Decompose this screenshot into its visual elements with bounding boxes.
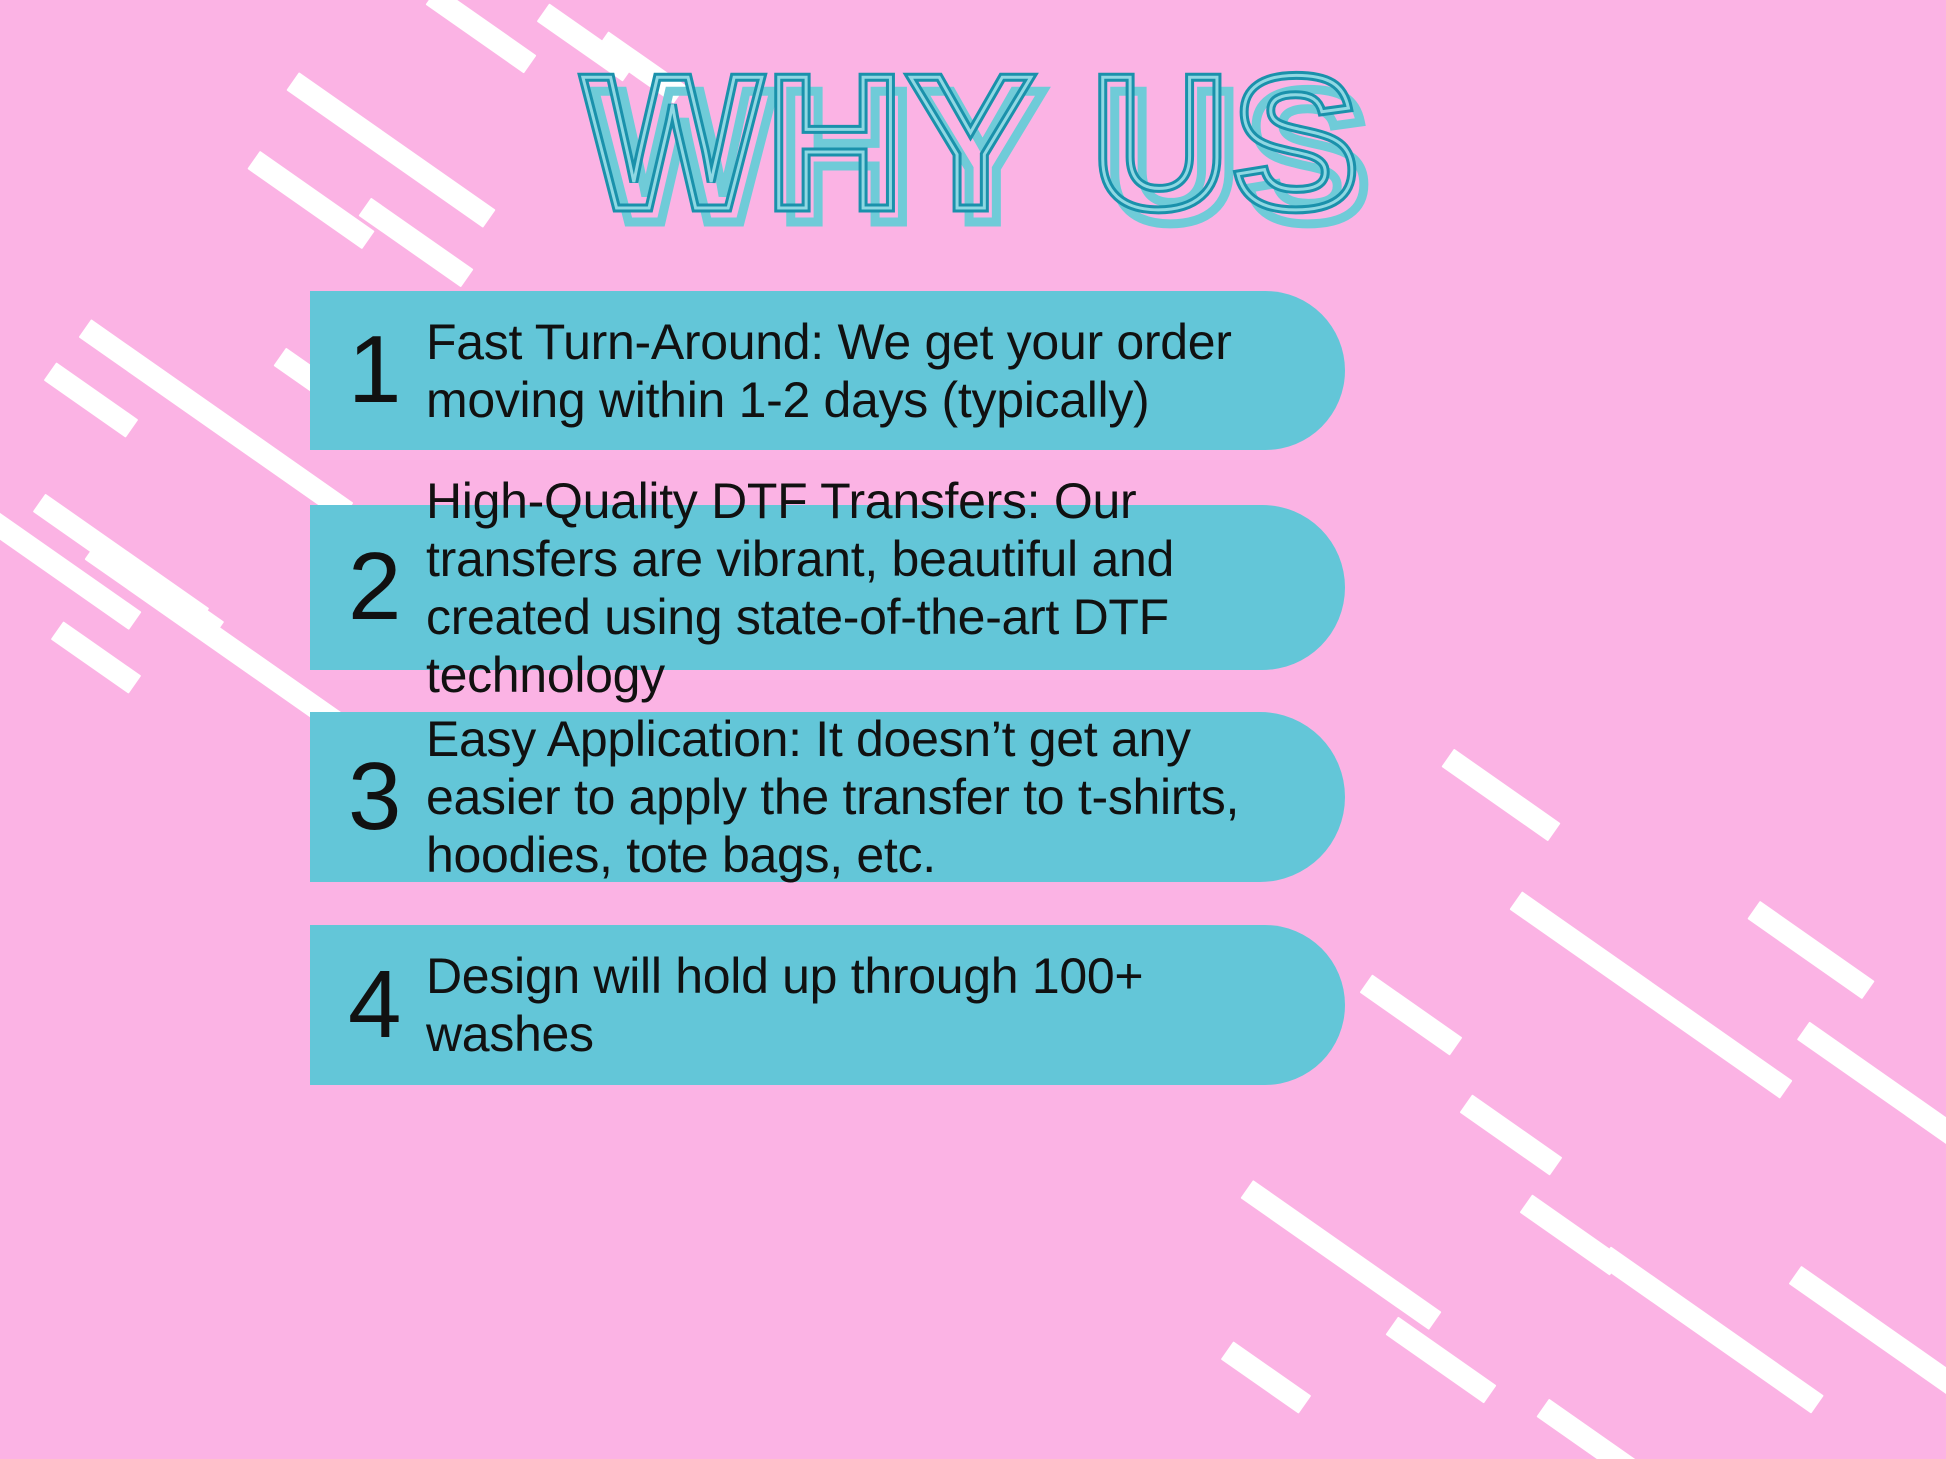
benefit-number-3: 3 <box>348 754 426 840</box>
diagonal-stripe <box>1460 1094 1563 1175</box>
diagonal-stripe <box>1510 891 1793 1098</box>
diagonal-stripe <box>1520 1194 1623 1275</box>
diagonal-stripe <box>1797 1021 1946 1148</box>
diagonal-stripe <box>1598 1246 1824 1413</box>
diagonal-stripe <box>33 494 209 627</box>
diagonal-stripe <box>1386 1317 1497 1404</box>
diagonal-stripe <box>1360 974 1463 1055</box>
diagonal-stripe <box>1240 1180 1441 1330</box>
title-inner-layer: WHY US <box>0 48 1946 238</box>
benefit-text-4: Design will hold up through 100+ washes <box>426 947 1265 1063</box>
benefit-card-4: 4 Design will hold up through 100+ washe… <box>310 925 1345 1085</box>
benefit-text-3: Easy Application: It doesn’t get any eas… <box>426 710 1265 884</box>
diagonal-stripe <box>1536 1399 1655 1459</box>
poster-canvas: WHY US WHY US WHY US 1 Fast Turn-Around:… <box>0 0 1946 1459</box>
benefit-number-1: 1 <box>348 327 426 413</box>
benefit-card-1: 1 Fast Turn-Around: We get your order mo… <box>310 291 1345 450</box>
diagonal-stripe <box>44 362 139 437</box>
benefit-card-3: 3 Easy Application: It doesn’t get any e… <box>310 712 1345 882</box>
diagonal-stripe <box>138 570 224 640</box>
diagonal-stripe <box>1747 901 1874 999</box>
diagonal-stripe <box>1789 1266 1946 1404</box>
diagonal-stripe <box>1221 1341 1311 1414</box>
benefit-text-1: Fast Turn-Around: We get your order movi… <box>426 313 1265 429</box>
benefit-number-2: 2 <box>348 544 426 630</box>
benefit-text-2: High-Quality DTF Transfers: Our transfer… <box>426 472 1265 704</box>
diagonal-stripe <box>51 621 141 694</box>
benefit-number-4: 4 <box>348 962 426 1048</box>
diagonal-stripe <box>1441 749 1560 842</box>
diagonal-stripe <box>0 480 142 630</box>
page-title: WHY US WHY US WHY US <box>0 48 1946 248</box>
benefit-card-2: 2 High-Quality DTF Transfers: Our transf… <box>310 505 1345 670</box>
